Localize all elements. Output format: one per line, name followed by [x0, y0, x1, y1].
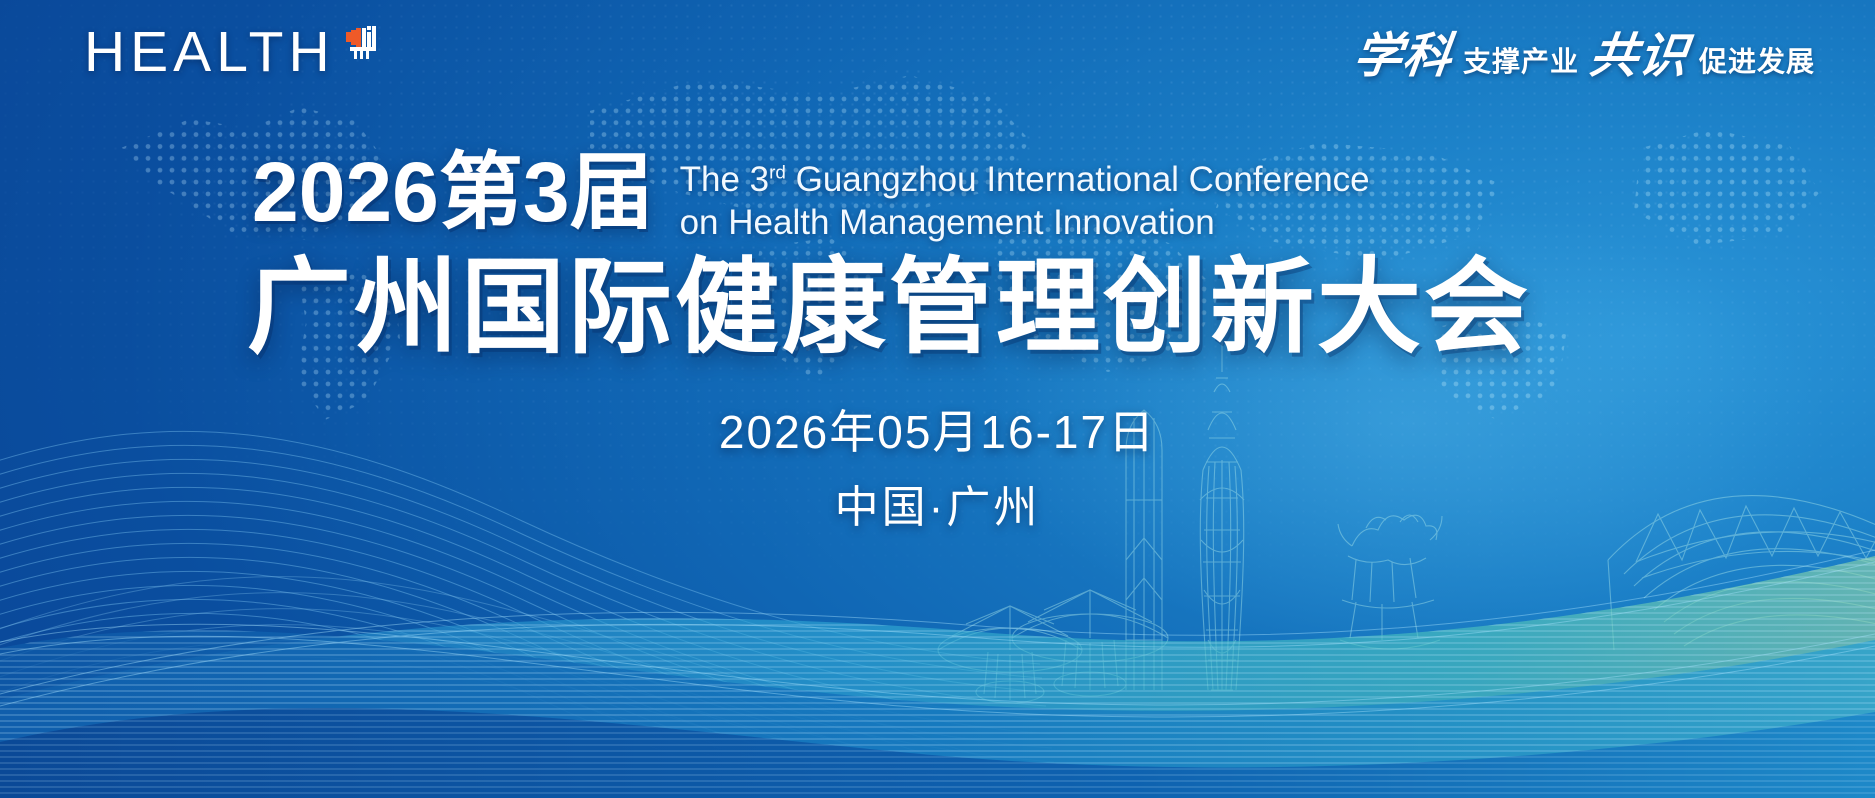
slogan-phrase-1-big: 学科 — [1351, 32, 1455, 80]
main-title: 广州国际健康管理创新大会 — [247, 252, 1531, 364]
english-title-line-1-pre: The 3 — [680, 160, 770, 199]
health-pixel-mark-icon — [340, 26, 380, 62]
headline-row: 2026第3届 The 3rd Guangzhou International … — [252, 152, 1370, 244]
ordinal-superscript: rd — [769, 162, 786, 183]
event-date: 2026年05月16-17日 — [0, 398, 1875, 467]
logo-wordmark: HEALTH — [84, 24, 335, 81]
slogan-phrase-2-small: 促进发展 — [1699, 48, 1815, 80]
health-logo[interactable]: HEALTH — [84, 24, 380, 81]
year-edition-title: 2026第3届 — [252, 152, 654, 233]
slogan-phrase-2-big: 共识 — [1587, 32, 1691, 80]
event-meta: 2026年05月16-17日 中国·广州 — [0, 398, 1875, 541]
slogan-phrase-1-small: 支撑产业 — [1463, 48, 1579, 80]
english-title-line-2: on Health Management Innovation — [680, 201, 1370, 244]
english-title-line-1-post: Guangzhou International Conference — [786, 160, 1370, 199]
haixinsha-canopy-right-icon — [1012, 590, 1168, 696]
haixinsha-canopy-left-icon — [938, 606, 1082, 703]
english-title-line-1: The 3rd Guangzhou International Conferen… — [680, 158, 1370, 201]
event-location: 中国·广州 — [0, 475, 1875, 541]
slogan-group: 学科 支撑产业 共识 促进发展 — [1354, 32, 1815, 80]
english-title-block: The 3rd Guangzhou International Conferen… — [680, 158, 1370, 244]
conference-banner: HEALTH — [0, 0, 1875, 798]
